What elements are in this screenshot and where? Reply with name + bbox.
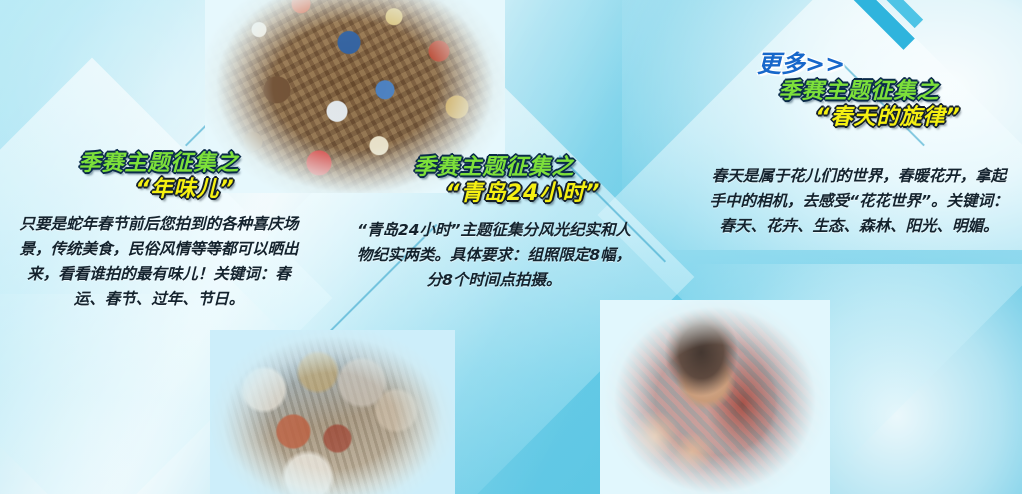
feature-qingdao-24h-title-prefix: 季赛主题征集之	[338, 156, 650, 179]
feature-spring-melody-title-theme: “春天的旋律”	[700, 106, 1018, 129]
feature-qingdao-24h-title-theme: “青岛24小时”	[338, 182, 650, 205]
blossom-hillside-photo-image	[210, 330, 455, 494]
feature-year-flavor-title-theme: “年味儿”	[0, 178, 318, 201]
feature-year-flavor-body: 只要是蛇年春节前后您拍到的各种喜庆场景，传统美食，民俗风情等等都可以晒出来，看看…	[0, 212, 318, 312]
promo-banner: 更多>> 季赛主题征集之 “年味儿” 只要是蛇年春节前后您拍到的各种喜庆场景，传…	[0, 0, 1022, 494]
feature-qingdao-24h-body: “青岛24小时”主题征集分风光纪实和人物纪实两类。具体要求：组照限定8幅，分8个…	[338, 218, 650, 293]
feature-spring-melody-body: 春天是属于花儿们的世界，春暖花开，拿起手中的相机，去感受“花花世界”。关键词：春…	[700, 164, 1018, 239]
more-link[interactable]: 更多>>	[757, 44, 845, 79]
blossom-hillside-photo	[210, 330, 455, 494]
feature-spring-melody[interactable]: 季赛主题征集之 “春天的旋律” 春天是属于花儿们的世界，春暖花开，拿起手中的相机…	[700, 80, 1018, 239]
feature-year-flavor-title-prefix: 季赛主题征集之	[0, 152, 318, 175]
person-working-photo-image	[600, 300, 830, 494]
person-working-photo	[600, 300, 830, 494]
feature-spring-melody-title-prefix: 季赛主题征集之	[700, 80, 1018, 103]
feature-qingdao-24h[interactable]: 季赛主题征集之 “青岛24小时” “青岛24小时”主题征集分风光纪实和人物纪实两…	[338, 156, 650, 293]
feature-year-flavor[interactable]: 季赛主题征集之 “年味儿” 只要是蛇年春节前后您拍到的各种喜庆场景，传统美食，民…	[0, 152, 318, 312]
